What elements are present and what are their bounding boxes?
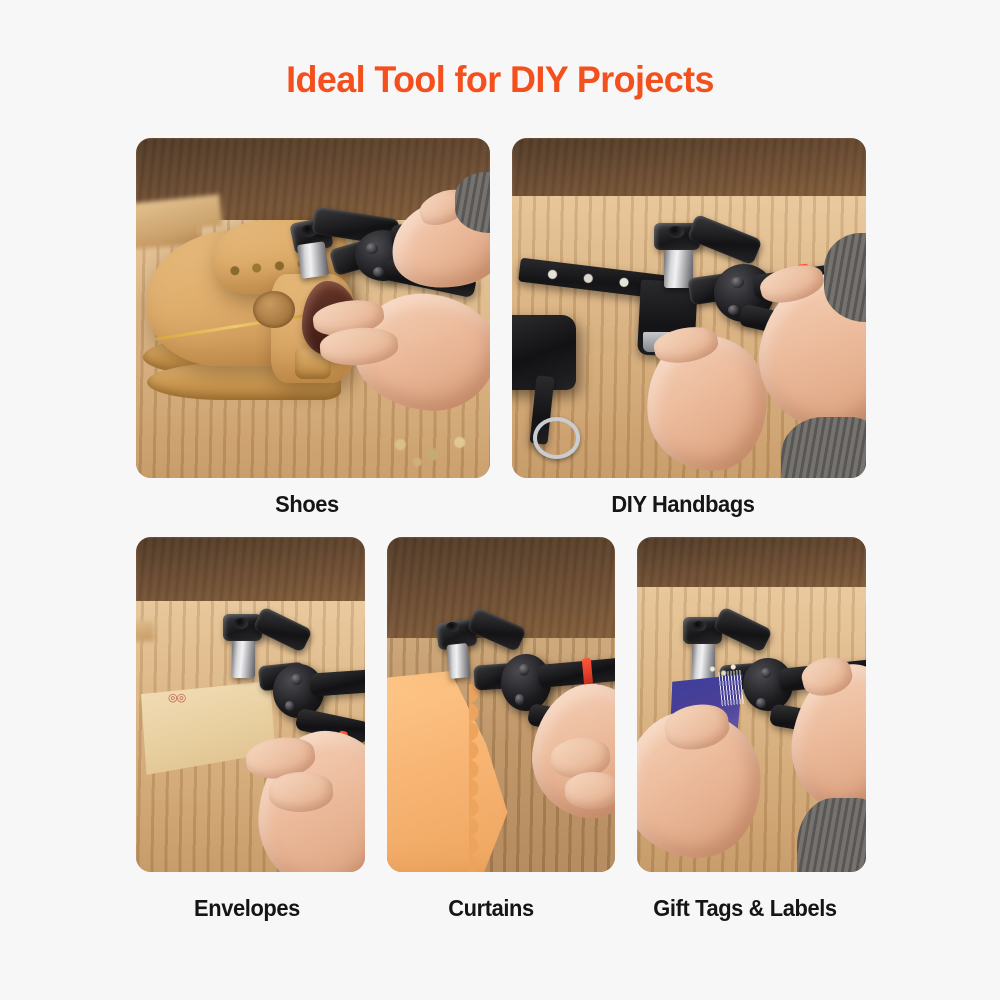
caption-envelopes: Envelopes	[142, 894, 353, 922]
tile-envelopes[interactable]: ◎◎	[136, 537, 365, 872]
gallery-row-bottom: ◎◎	[136, 537, 866, 872]
tile-handbags[interactable]	[512, 138, 866, 478]
photo-gift-tags	[637, 537, 866, 872]
caption-gift-tags: Gift Tags & Labels	[630, 894, 860, 922]
marketing-banner: Ideal Tool for DIY Projects	[0, 0, 1000, 1000]
tile-shoes[interactable]	[136, 138, 490, 478]
caption-shoes: Shoes	[145, 490, 470, 518]
page-title: Ideal Tool for DIY Projects	[15, 56, 985, 104]
caption-diy-handbags: DIY Handbags	[509, 490, 857, 518]
photo-shoes	[136, 138, 490, 478]
tile-gift-tags[interactable]	[637, 537, 866, 872]
photo-handbags	[512, 138, 866, 478]
gallery-row-top	[136, 138, 866, 478]
photo-curtains	[387, 537, 616, 872]
caption-curtains: Curtains	[386, 894, 597, 922]
tile-curtains[interactable]	[387, 537, 616, 872]
photo-envelopes: ◎◎	[136, 537, 365, 872]
